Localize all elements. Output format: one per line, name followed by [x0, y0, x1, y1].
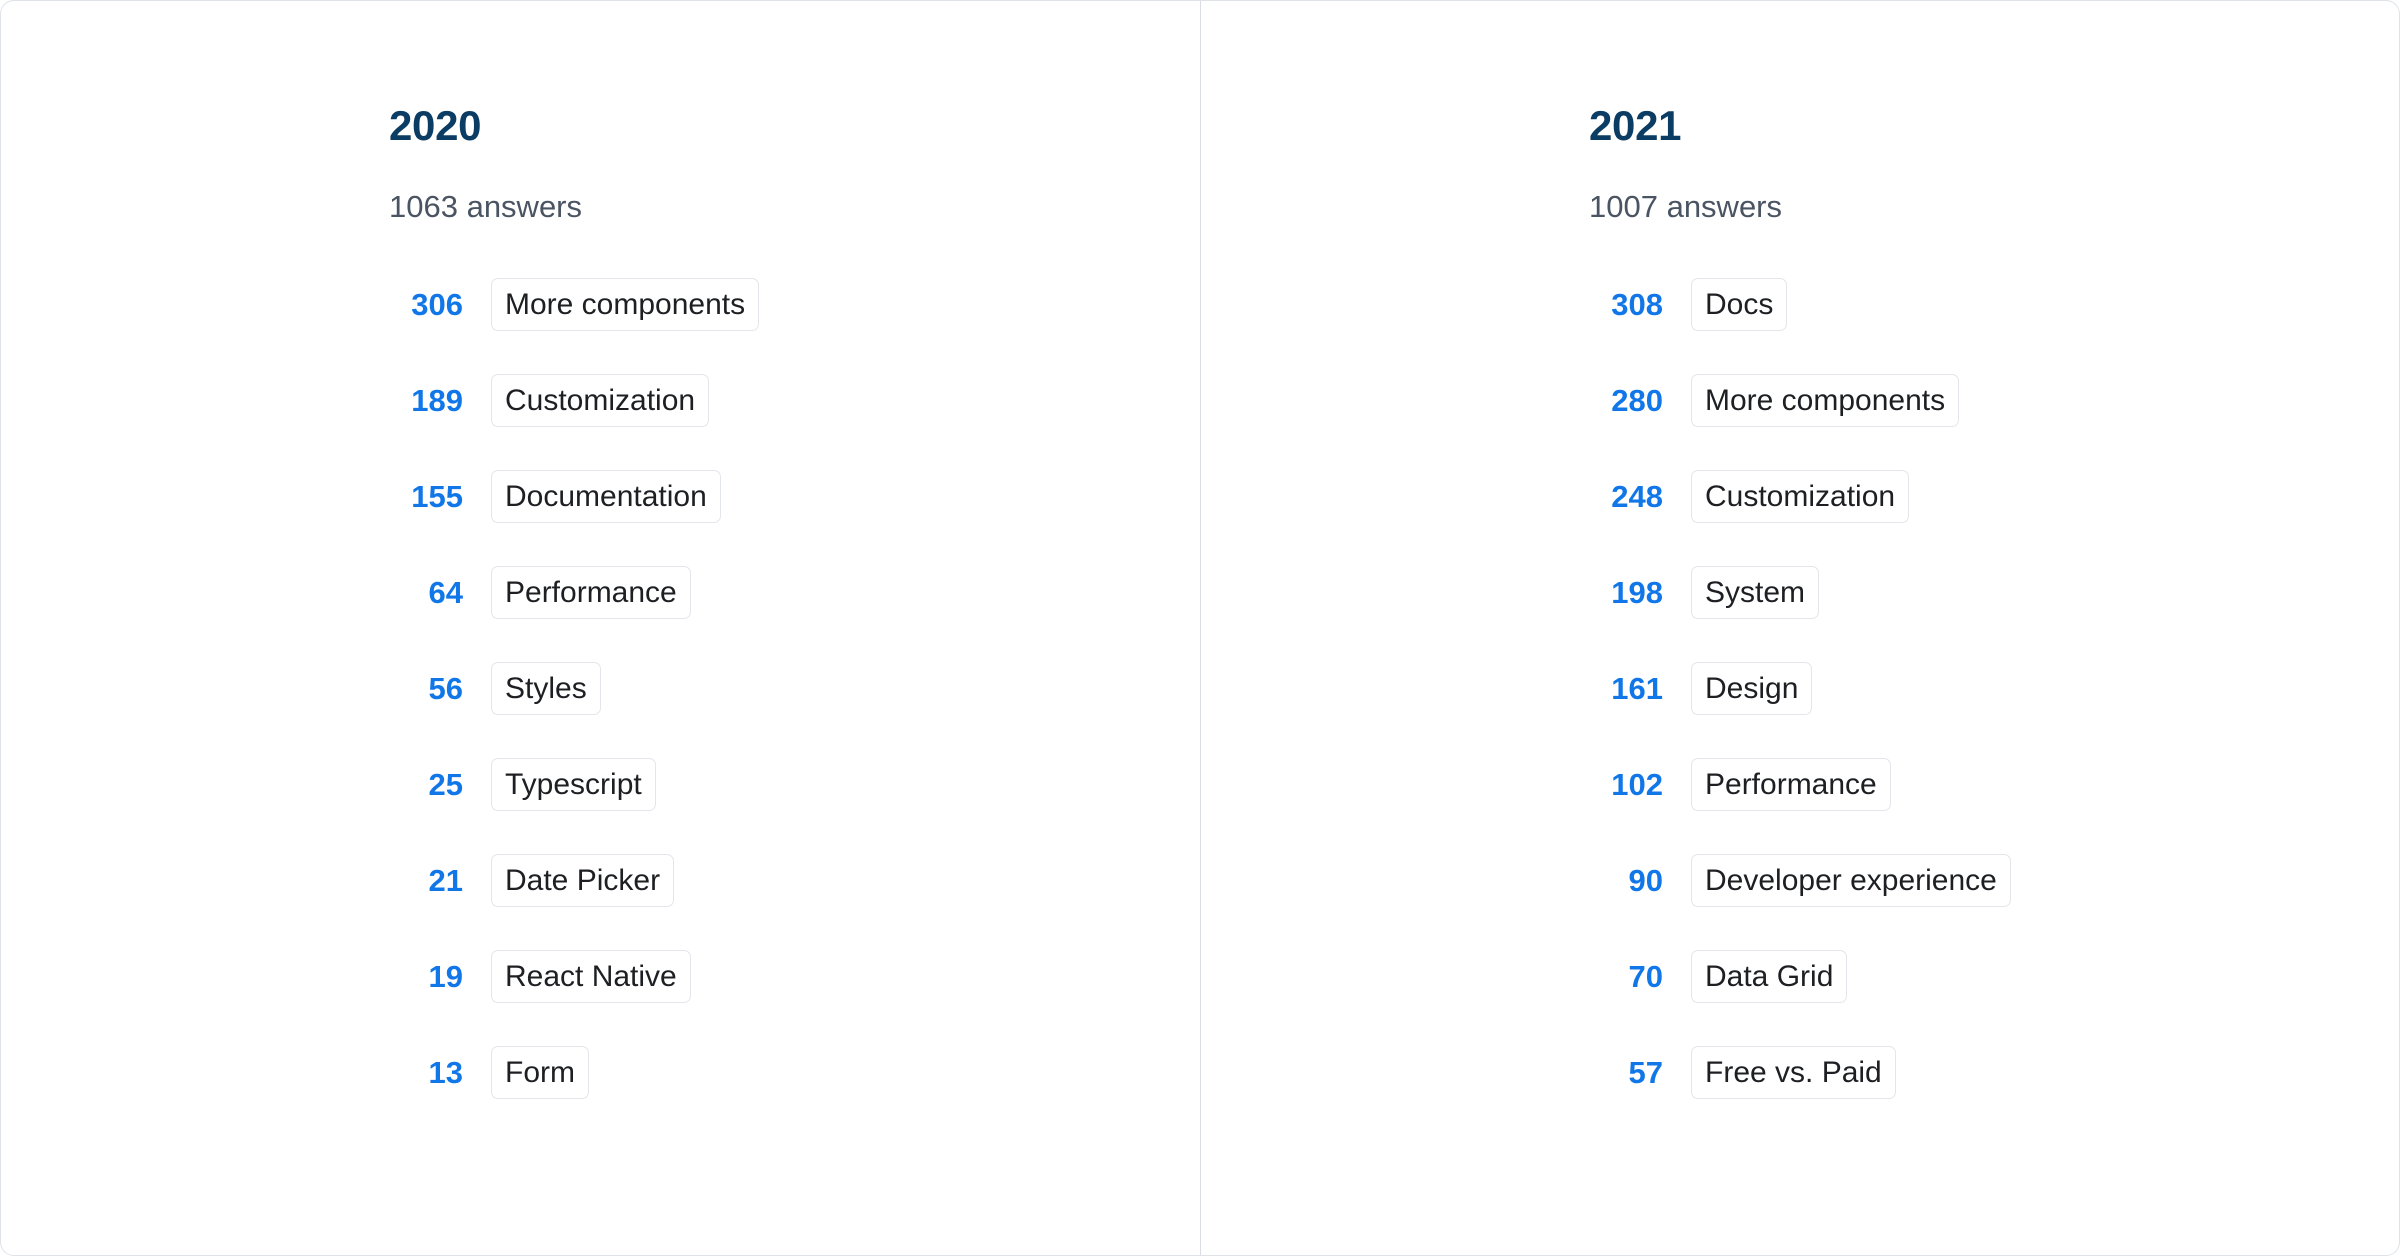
answer-label-badge[interactable]: More components — [1691, 374, 1959, 427]
answer-count: 155 — [389, 481, 463, 512]
column-subtitle: 1063 answers — [389, 191, 1200, 222]
list-item: 198 System — [1589, 566, 2399, 619]
answer-label-badge[interactable]: System — [1691, 566, 1819, 619]
column-title: 2020 — [389, 105, 1200, 147]
answer-count: 25 — [389, 769, 463, 800]
answer-count: 280 — [1589, 385, 1663, 416]
answer-label-badge[interactable]: Customization — [491, 374, 709, 427]
answer-count: 57 — [1589, 1057, 1663, 1088]
list-item: 280 More components — [1589, 374, 2399, 427]
year-column-2020: 2020 1063 answers 306 More components 18… — [1, 1, 1200, 1255]
list-item: 56 Styles — [389, 662, 1200, 715]
answer-label-badge[interactable]: Form — [491, 1046, 589, 1099]
answer-count: 102 — [1589, 769, 1663, 800]
list-item: 19 React Native — [389, 950, 1200, 1003]
answer-label-badge[interactable]: Customization — [1691, 470, 1909, 523]
list-item: 90 Developer experience — [1589, 854, 2399, 907]
list-item: 248 Customization — [1589, 470, 2399, 523]
list-item: 21 Date Picker — [389, 854, 1200, 907]
answer-count: 19 — [389, 961, 463, 992]
answer-label-badge[interactable]: Performance — [491, 566, 691, 619]
answer-label-badge[interactable]: Date Picker — [491, 854, 674, 907]
answer-label-badge[interactable]: Performance — [1691, 758, 1891, 811]
comparison-card: 2020 1063 answers 306 More components 18… — [0, 0, 2400, 1256]
answer-count: 198 — [1589, 577, 1663, 608]
answer-count: 21 — [389, 865, 463, 896]
answer-label-badge[interactable]: Design — [1691, 662, 1812, 715]
list-item: 64 Performance — [389, 566, 1200, 619]
list-item: 161 Design — [1589, 662, 2399, 715]
list-item: 306 More components — [389, 278, 1200, 331]
answer-label-badge[interactable]: Free vs. Paid — [1691, 1046, 1896, 1099]
answer-list: 308 Docs 280 More components 248 Customi… — [1589, 278, 2399, 1099]
list-item: 308 Docs — [1589, 278, 2399, 331]
answer-count: 64 — [389, 577, 463, 608]
column-title: 2021 — [1589, 105, 2399, 147]
answer-count: 90 — [1589, 865, 1663, 896]
answer-count: 70 — [1589, 961, 1663, 992]
answer-count: 56 — [389, 673, 463, 704]
list-item: 102 Performance — [1589, 758, 2399, 811]
answer-count: 161 — [1589, 673, 1663, 704]
answer-label-badge[interactable]: Docs — [1691, 278, 1787, 331]
answer-label-badge[interactable]: More components — [491, 278, 759, 331]
answer-count: 248 — [1589, 481, 1663, 512]
answer-count: 308 — [1589, 289, 1663, 320]
answer-count: 189 — [389, 385, 463, 416]
answer-label-badge[interactable]: Typescript — [491, 758, 656, 811]
column-subtitle: 1007 answers — [1589, 191, 2399, 222]
answer-label-badge[interactable]: React Native — [491, 950, 691, 1003]
list-item: 189 Customization — [389, 374, 1200, 427]
answer-label-badge[interactable]: Developer experience — [1691, 854, 2011, 907]
answer-count: 306 — [389, 289, 463, 320]
answer-count: 13 — [389, 1057, 463, 1088]
list-item: 25 Typescript — [389, 758, 1200, 811]
list-item: 155 Documentation — [389, 470, 1200, 523]
list-item: 70 Data Grid — [1589, 950, 2399, 1003]
list-item: 57 Free vs. Paid — [1589, 1046, 2399, 1099]
answer-list: 306 More components 189 Customization 15… — [389, 278, 1200, 1099]
answer-label-badge[interactable]: Data Grid — [1691, 950, 1847, 1003]
year-column-2021: 2021 1007 answers 308 Docs 280 More comp… — [1200, 1, 2399, 1255]
answer-label-badge[interactable]: Documentation — [491, 470, 721, 523]
list-item: 13 Form — [389, 1046, 1200, 1099]
answer-label-badge[interactable]: Styles — [491, 662, 601, 715]
